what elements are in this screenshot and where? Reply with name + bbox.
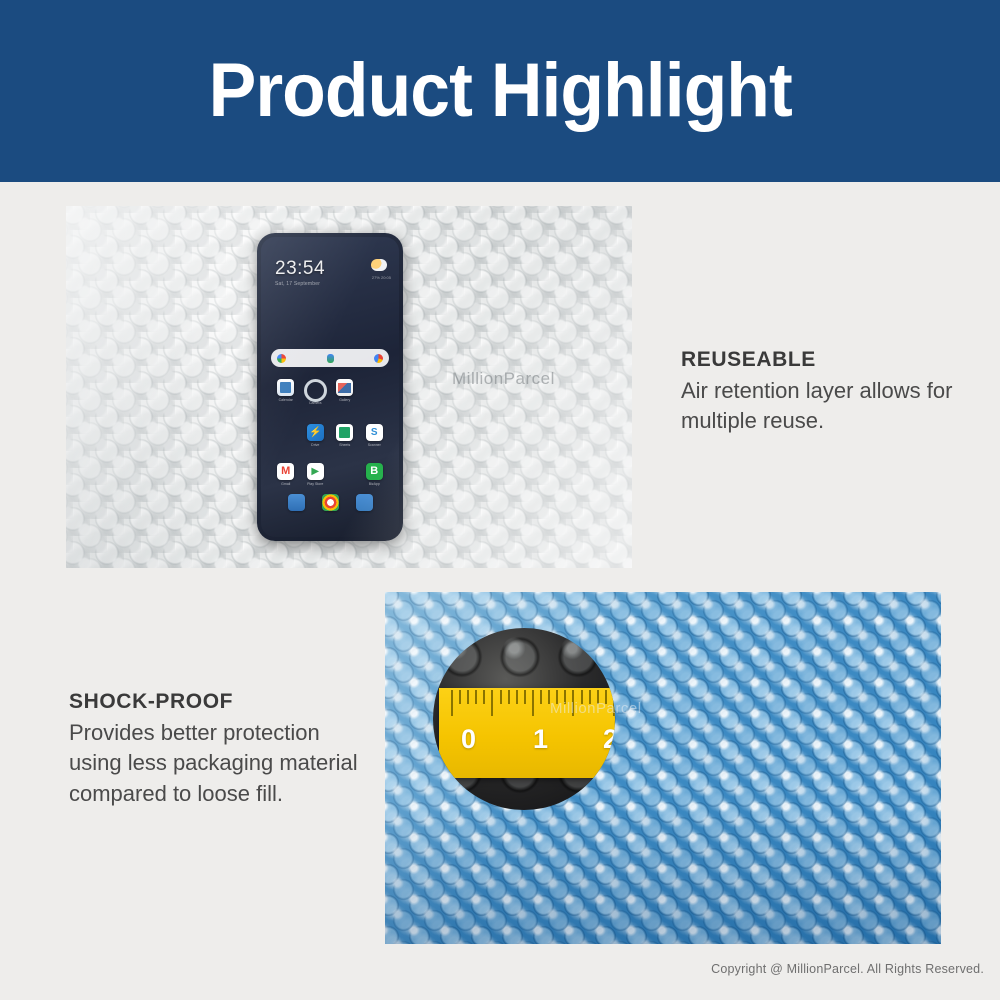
feature-title: REUSEABLE	[681, 348, 981, 372]
feature-reuseable: REUSEABLE Air retention layer allows for…	[681, 348, 981, 437]
ruler-numbers: 0 1 2	[439, 724, 615, 764]
photo-phone-in-bubble-wrap: 23:54 Sat, 17 September 27% 20:05 Calend…	[66, 206, 632, 568]
ruler-number-1: 1	[533, 724, 548, 755]
copyright-notice: Copyright @ MillionParcel. All Rights Re…	[711, 962, 984, 976]
ruler-number-0: 0	[461, 724, 476, 755]
ruler-closeup-inset: 0 1 2	[433, 628, 615, 810]
photo-blue-bubble-wrap: 0 1 2 MillionParcel	[385, 592, 941, 944]
feature-body: Air retention layer allows for multiple …	[681, 376, 981, 437]
header-banner: Product Highlight	[0, 0, 1000, 182]
page-title: Product Highlight	[208, 53, 791, 129]
watermark: MillionParcel	[550, 700, 642, 717]
feature-body: Provides better protection using less pa…	[69, 718, 369, 809]
watermark: MillionParcel	[452, 369, 555, 389]
ruler-number-2: 2	[603, 724, 615, 755]
feature-shock-proof: SHOCK-PROOF Provides better protection u…	[69, 690, 369, 809]
feature-title: SHOCK-PROOF	[69, 690, 369, 714]
